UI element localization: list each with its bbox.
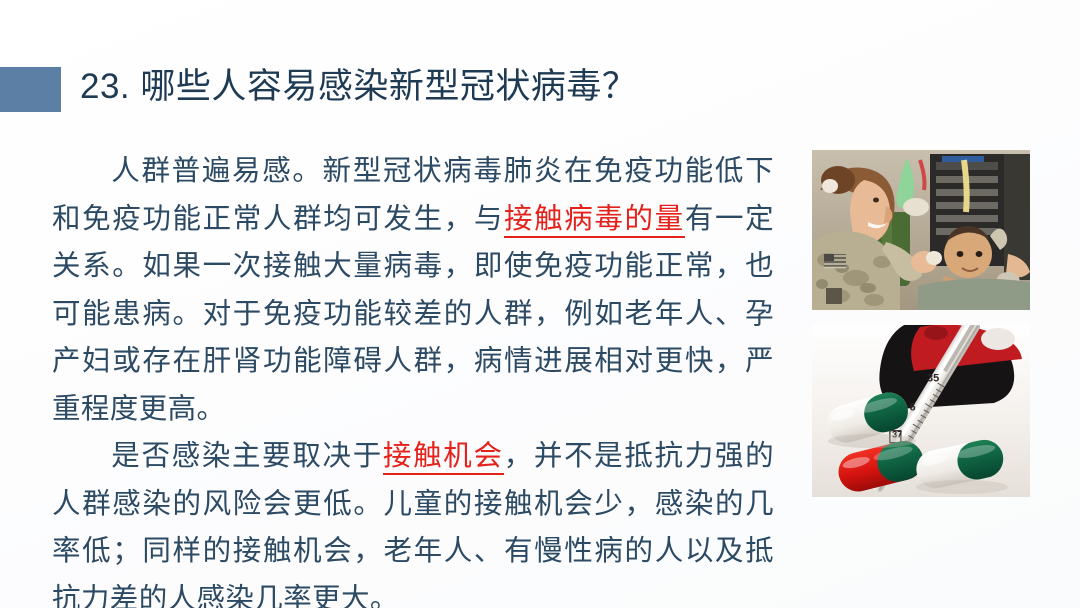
- paragraph-1: 人群普遍易感。新型冠状病毒肺炎在免疫功能低下和免疫功能正常人群均可发生，与接触病…: [52, 148, 774, 433]
- thermometer-mark-35: 35: [927, 372, 939, 384]
- body-text-column: 人群普遍易感。新型冠状病毒肺炎在免疫功能低下和免疫功能正常人群均可发生，与接触病…: [52, 148, 774, 608]
- paragraph-2-highlight: 接触机会: [383, 440, 504, 475]
- paragraph-2: 是否感染主要取决于接触机会，并不是抵抗力强的人群感染的风险会更低。儿童的接触机会…: [52, 433, 774, 608]
- photo-soldier-child: [812, 150, 1030, 310]
- thermometer-capsules-illustration: 35 6 37 8: [812, 325, 1030, 497]
- soldier-child-illustration: [812, 150, 1030, 310]
- title-accent-bar: [0, 67, 61, 112]
- photo-thermometer-capsules: 35 6 37 8: [812, 325, 1030, 497]
- paragraph-2-segment-1: 是否感染主要取决于: [110, 440, 383, 472]
- slide-root: 23. 哪些人容易感染新型冠状病毒？ 人群普遍易感。新型冠状病毒肺炎在免疫功能低…: [0, 0, 1080, 608]
- page-title: 23. 哪些人容易感染新型冠状病毒？: [80, 62, 637, 112]
- thermometer-mark-6: 6: [909, 401, 915, 413]
- paragraph-1-highlight: 接触病毒的量: [504, 203, 685, 238]
